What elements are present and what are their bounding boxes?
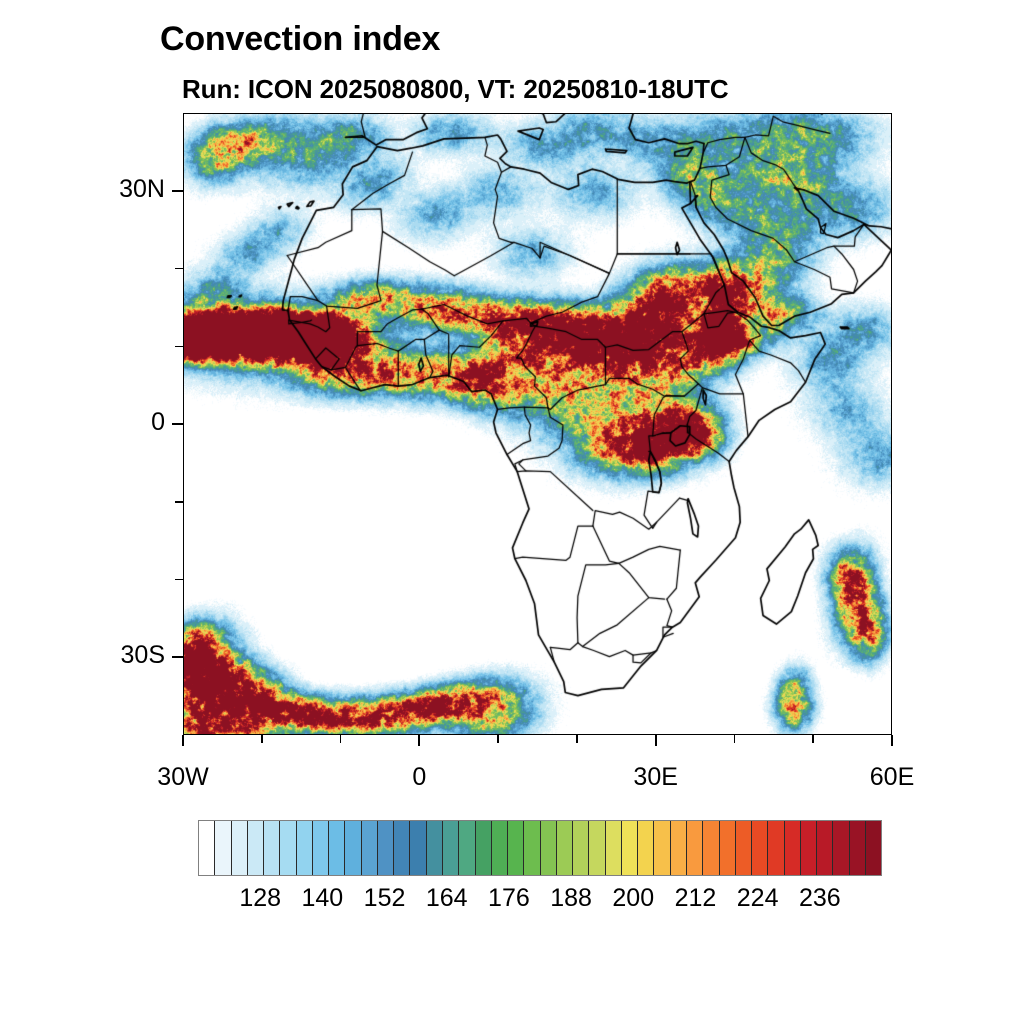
colorbar-tick-label: 200 (612, 884, 654, 913)
colorbar-segment (671, 821, 687, 875)
y-tick-major (172, 656, 183, 658)
y-axis-label-30n: 30N (119, 175, 165, 204)
colorbar-segment (850, 821, 866, 875)
colorbar-tick-label: 236 (799, 884, 841, 913)
y-tick-major (172, 423, 183, 425)
x-tick-minor (734, 735, 736, 743)
colorbar-segment (427, 821, 443, 875)
y-tick-minor (175, 579, 183, 581)
colorbar-segment (199, 821, 215, 875)
colorbar-segment (654, 821, 670, 875)
colorbar-segment (313, 821, 329, 875)
colorbar-segment (492, 821, 508, 875)
colorbar-segment (345, 821, 361, 875)
x-tick-major (418, 735, 420, 746)
colorbar-segment (443, 821, 459, 875)
colorbar-tick-label: 164 (426, 884, 468, 913)
colorbar-tick-label: 188 (550, 884, 592, 913)
y-tick-minor (175, 346, 183, 348)
x-tick-minor (497, 735, 499, 743)
colorbar (198, 820, 882, 876)
colorbar-segment (817, 821, 833, 875)
coastline-and-border-overlay (184, 114, 892, 735)
colorbar-segment (638, 821, 654, 875)
x-axis-label-30w: 30W (157, 763, 208, 792)
colorbar-tick-label: 176 (488, 884, 530, 913)
colorbar-segment (768, 821, 784, 875)
colorbar-segment (378, 821, 394, 875)
colorbar-segment (785, 821, 801, 875)
colorbar-segment (589, 821, 605, 875)
x-axis-label-60e: 60E (870, 763, 914, 792)
colorbar-tick-label: 128 (239, 884, 281, 913)
colorbar-segment (752, 821, 768, 875)
y-tick-major (172, 190, 183, 192)
colorbar-tick-labels: 128140152164176188200212224236 (198, 884, 882, 918)
x-tick-minor (261, 735, 263, 743)
colorbar-segment (394, 821, 410, 875)
x-tick-major (891, 735, 893, 746)
colorbar-tick-label: 224 (737, 884, 779, 913)
page-title: Convection index (160, 20, 440, 59)
colorbar-segment (622, 821, 638, 875)
colorbar-segment (459, 821, 475, 875)
x-tick-major (655, 735, 657, 746)
x-axis-label-0: 0 (412, 763, 426, 792)
colorbar-segment (573, 821, 589, 875)
colorbar-segment (264, 821, 280, 875)
colorbar-segment (297, 821, 313, 875)
colorbar-tick-label: 212 (675, 884, 717, 913)
colorbar-segment (736, 821, 752, 875)
colorbar-segment (703, 821, 719, 875)
colorbar-segment (606, 821, 622, 875)
colorbar-segment (541, 821, 557, 875)
colorbar-segment (410, 821, 426, 875)
colorbar-segment (687, 821, 703, 875)
colorbar-segment (801, 821, 817, 875)
y-tick-minor (175, 501, 183, 503)
run-and-validtime-subtitle: Run: ICON 2025080800, VT: 20250810-18UTC (182, 74, 729, 105)
colorbar-segment (524, 821, 540, 875)
colorbar-tick-label: 140 (302, 884, 344, 913)
colorbar-segment (866, 821, 881, 875)
colorbar-segment (329, 821, 345, 875)
colorbar-segment (280, 821, 296, 875)
x-tick-minor (812, 735, 814, 743)
colorbar-segment (833, 821, 849, 875)
x-axis-label-30e: 30E (633, 763, 677, 792)
colorbar-gradient (198, 820, 882, 876)
x-tick-major (182, 735, 184, 746)
colorbar-segment (476, 821, 492, 875)
map-plot-area (183, 113, 892, 735)
colorbar-segment (557, 821, 573, 875)
colorbar-segment (362, 821, 378, 875)
y-axis-label-30s: 30S (121, 641, 165, 670)
colorbar-segment (232, 821, 248, 875)
x-tick-minor (340, 735, 342, 743)
y-tick-minor (175, 268, 183, 270)
colorbar-segment (215, 821, 231, 875)
colorbar-segment (508, 821, 524, 875)
colorbar-segment (720, 821, 736, 875)
y-axis-label-0: 0 (151, 408, 165, 437)
colorbar-tick-label: 152 (364, 884, 406, 913)
x-tick-minor (576, 735, 578, 743)
colorbar-segment (248, 821, 264, 875)
